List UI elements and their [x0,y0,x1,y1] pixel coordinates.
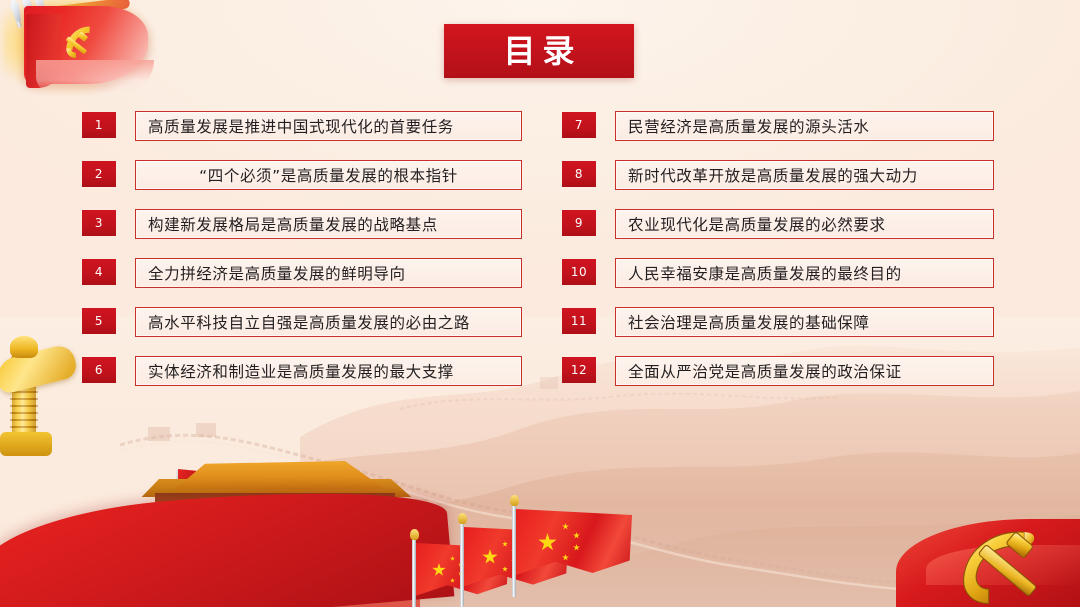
toc-item-label: 社会治理是高质量发展的基础保障 [616,311,870,333]
table-of-contents: 1高质量发展是推进中国式现代化的首要任务2“四个必须”是高质量发展的根本指针3构… [0,112,1080,402]
toc-item-box[interactable]: 农业现代化是高质量发展的必然要求 [615,209,994,239]
toc-item-label: “四个必须”是高质量发展的根本指针 [136,164,521,186]
toc-item-label: 全力拼经济是高质量发展的鲜明导向 [136,262,406,284]
toc-item-label: 高质量发展是推进中国式现代化的首要任务 [136,115,454,137]
toc-item-number: 10 [562,259,596,285]
toc-item[interactable]: 3构建新发展格局是高质量发展的战略基点 [82,210,552,259]
toc-column-right: 7民营经济是高质量发展的源头活水8新时代改革开放是高质量发展的强大动力9农业现代… [562,112,1032,406]
toc-item-label: 民营经济是高质量发展的源头活水 [616,115,870,137]
toc-item[interactable]: 11社会治理是高质量发展的基础保障 [562,308,1032,357]
page-title-text: 目录 [496,35,581,67]
toc-item-number: 7 [562,112,596,138]
cpc-emblem-decoration [896,497,1080,607]
toc-item-box[interactable]: 全面从严治党是高质量发展的政治保证 [615,356,994,386]
toc-item[interactable]: 5高水平科技自立自强是高质量发展的必由之路 [82,308,552,357]
toc-item[interactable]: 7民营经济是高质量发展的源头活水 [562,112,1032,161]
toc-item-box[interactable]: 民营经济是高质量发展的源头活水 [615,111,994,141]
toc-item-label: 新时代改革开放是高质量发展的强大动力 [616,164,918,186]
toc-item-box[interactable]: 构建新发展格局是高质量发展的战略基点 [135,209,522,239]
toc-item-box[interactable]: 高质量发展是推进中国式现代化的首要任务 [135,111,522,141]
toc-item-box[interactable]: 新时代改革开放是高质量发展的强大动力 [615,160,994,190]
hammer-and-sickle-icon [948,525,1058,607]
toc-item[interactable]: 4全力拼经济是高质量发展的鲜明导向 [82,259,552,308]
toc-item-label: 人民幸福安康是高质量发展的最终目的 [616,262,902,284]
toc-item[interactable]: 12全面从严治党是高质量发展的政治保证 [562,357,1032,406]
toc-item[interactable]: 10人民幸福安康是高质量发展的最终目的 [562,259,1032,308]
toc-item-box[interactable]: 全力拼经济是高质量发展的鲜明导向 [135,258,522,288]
toc-item-label: 构建新发展格局是高质量发展的战略基点 [136,213,438,235]
tiananmen-gate-icon: 中华人民共和国万岁 世界人民大团结万岁 [0,387,430,607]
toc-item-number: 5 [82,308,116,334]
toc-item-label: 高水平科技自立自强是高质量发展的必由之路 [136,311,470,333]
toc-item-box[interactable]: 实体经济和制造业是高质量发展的最大支撑 [135,356,522,386]
cpc-party-flag-icon [0,0,174,102]
toc-item-label: 实体经济和制造业是高质量发展的最大支撑 [136,360,454,382]
toc-item-number: 4 [82,259,116,285]
toc-item-number: 11 [562,308,596,334]
toc-item[interactable]: 2“四个必须”是高质量发展的根本指针 [82,161,552,210]
toc-item-box[interactable]: 人民幸福安康是高质量发展的最终目的 [615,258,994,288]
toc-item[interactable]: 1高质量发展是推进中国式现代化的首要任务 [82,112,552,161]
toc-item[interactable]: 8新时代改革开放是高质量发展的强大动力 [562,161,1032,210]
toc-item-box[interactable]: 高水平科技自立自强是高质量发展的必由之路 [135,307,522,337]
toc-item-box[interactable]: “四个必须”是高质量发展的根本指针 [135,160,522,190]
toc-item-number: 9 [562,210,596,236]
toc-item-box[interactable]: 社会治理是高质量发展的基础保障 [615,307,994,337]
toc-item-label: 全面从严治党是高质量发展的政治保证 [616,360,902,382]
toc-item[interactable]: 9农业现代化是高质量发展的必然要求 [562,210,1032,259]
toc-item-number: 6 [82,357,116,383]
hammer-and-sickle-icon [58,22,102,64]
slide-canvas: 目录 1高质量发展是推进中国式现代化的首要任务2“四个必须”是高质量发展的根本指… [0,0,1080,607]
toc-item-number: 1 [82,112,116,138]
toc-item-number: 2 [82,161,116,187]
toc-item-number: 12 [562,357,596,383]
page-title: 目录 [444,24,634,78]
toc-item-number: 8 [562,161,596,187]
toc-item-number: 3 [82,210,116,236]
china-national-flag-icon [412,503,662,607]
toc-item-label: 农业现代化是高质量发展的必然要求 [616,213,886,235]
toc-column-left: 1高质量发展是推进中国式现代化的首要任务2“四个必须”是高质量发展的根本指针3构… [82,112,552,406]
